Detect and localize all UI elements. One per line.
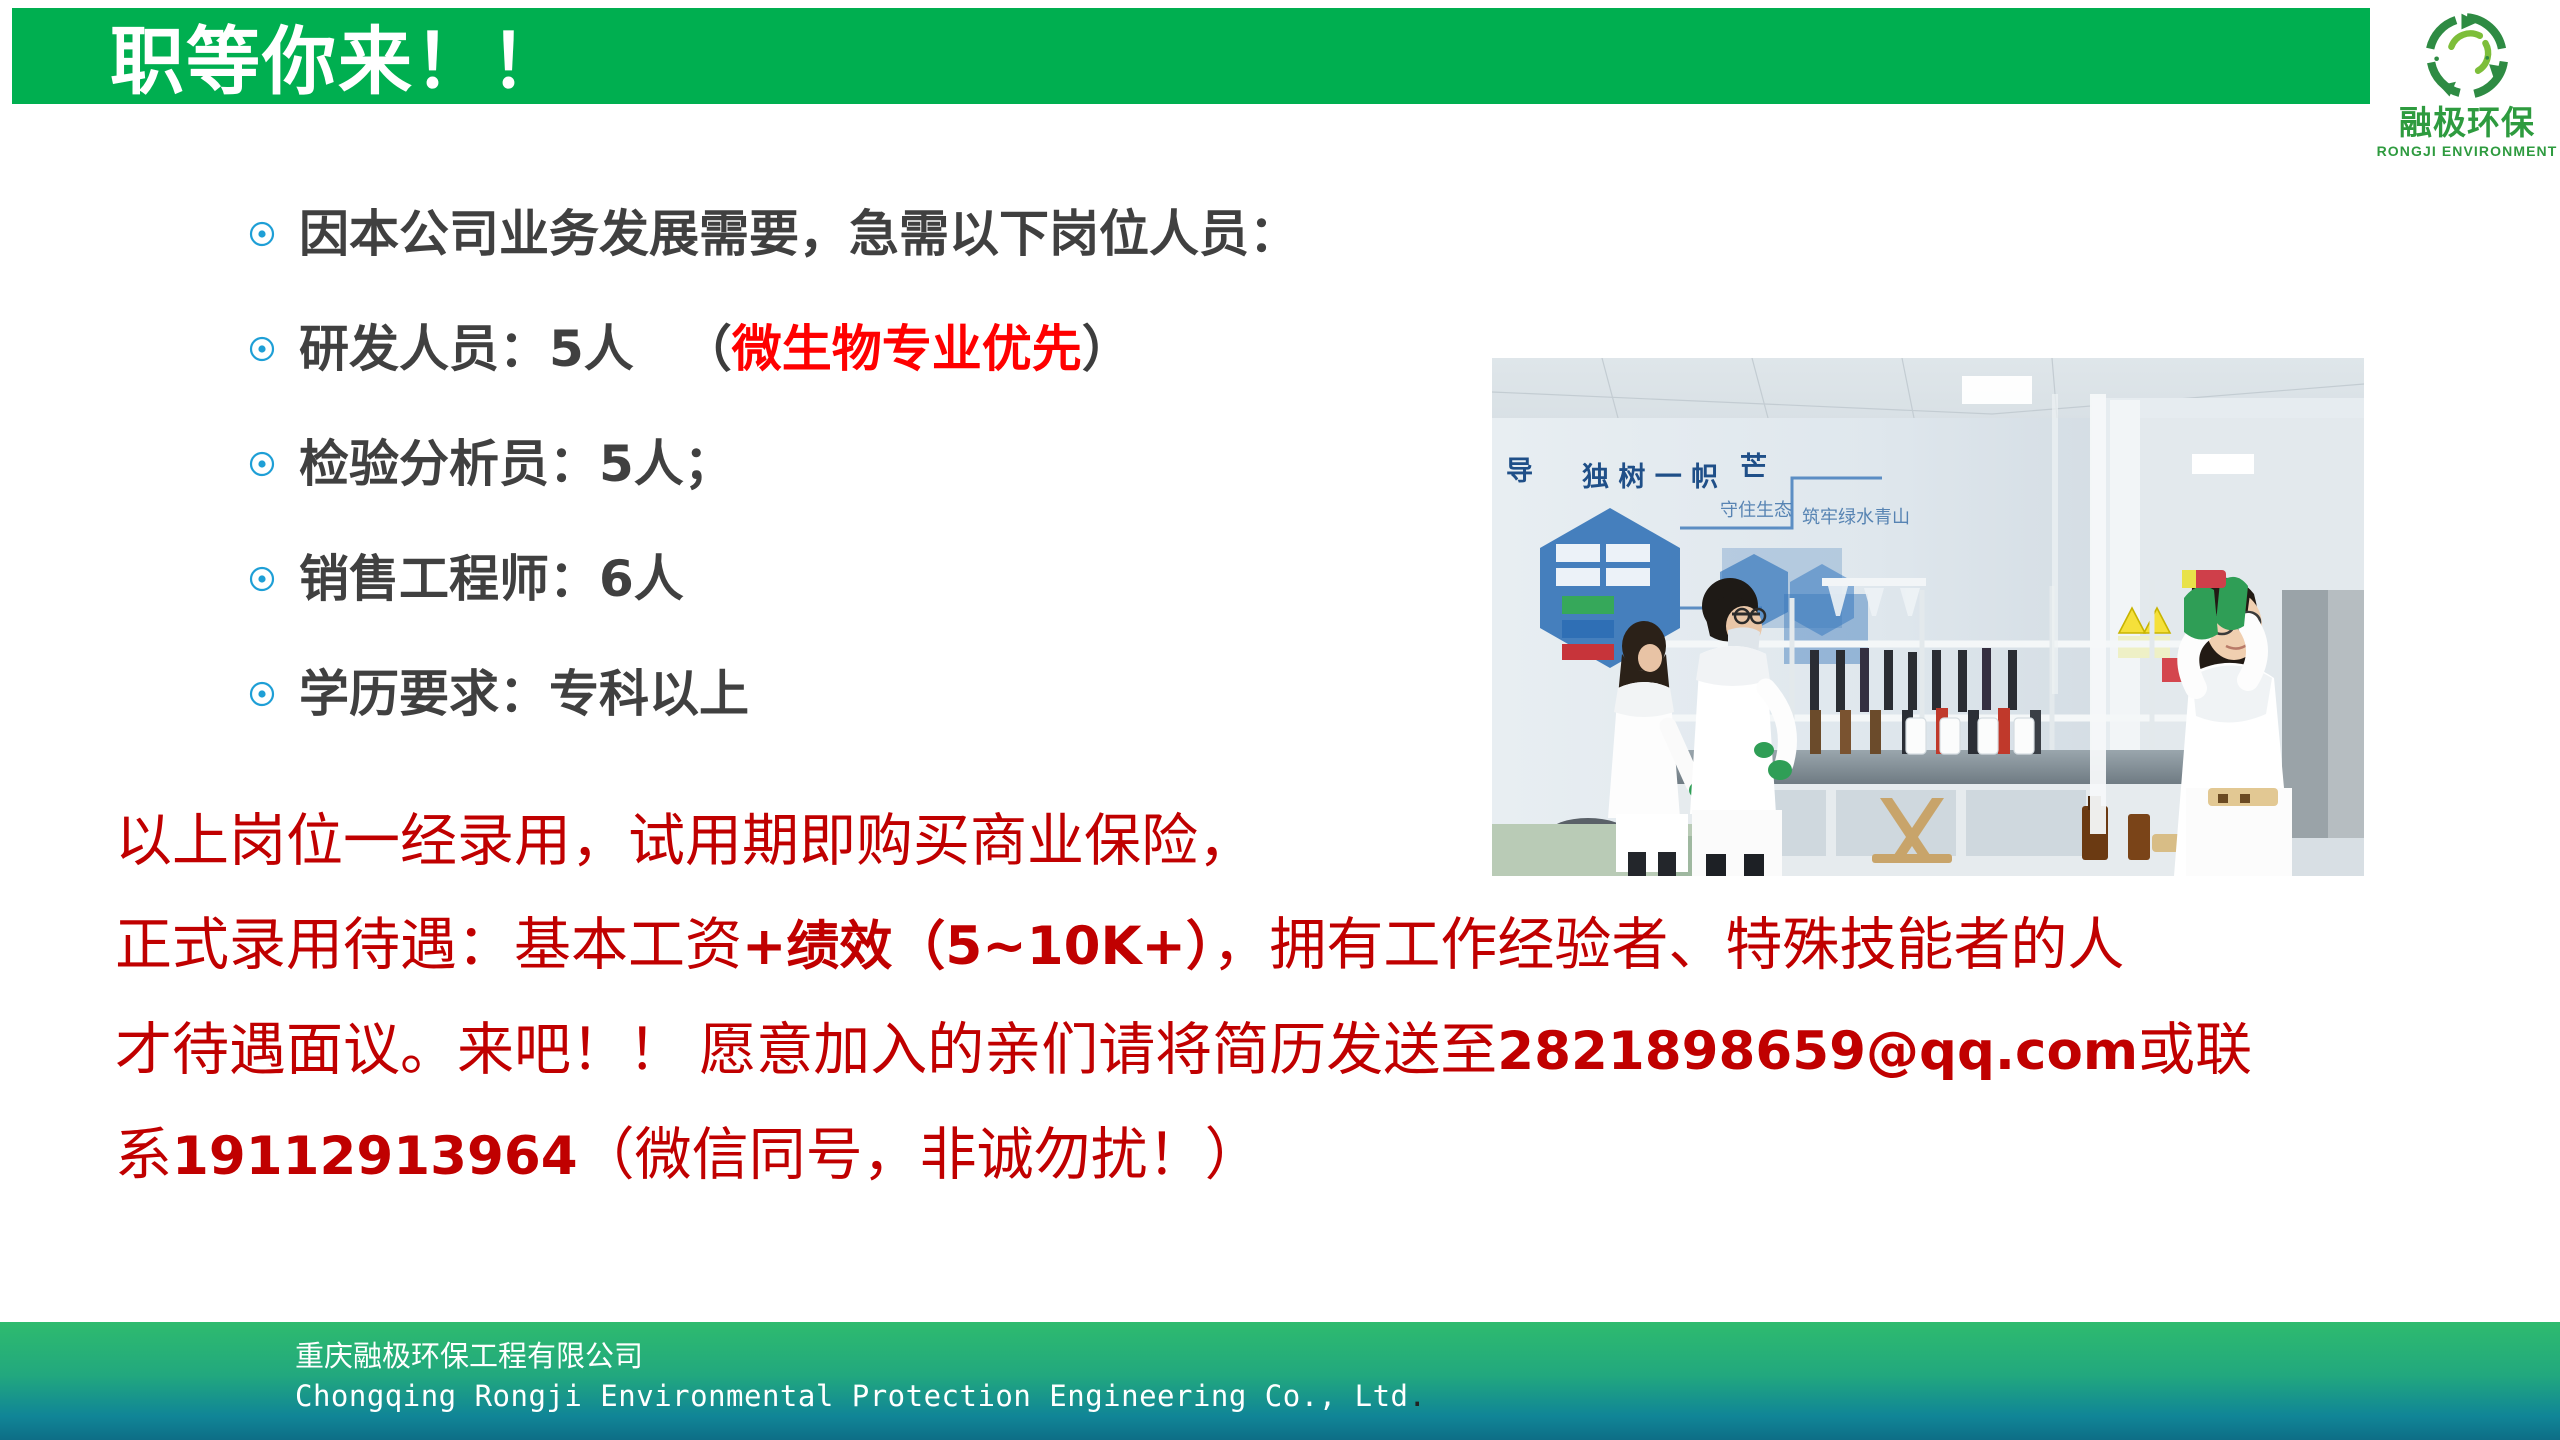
list-item-label: 因本公司业务发展需要，急需以下岗位人员： — [299, 196, 1299, 272]
list-item-label: 研发人员：5人（微生物专业优先） — [299, 311, 1132, 387]
contact-email[interactable]: 2821898659@qq.com — [1497, 1021, 2138, 1082]
offer-line-1: 以上岗位一经录用，试用期即购买商业保险， — [115, 790, 2465, 894]
svg-text:独 树 一 帜: 独 树 一 帜 — [1582, 462, 1718, 493]
phone-suffix: （微信同号，非诚勿扰！） — [578, 1124, 1262, 1187]
page-title: 职等你来！！ — [110, 14, 566, 110]
logo-name-en: RONGJI ENVIRONMENT — [2377, 142, 2558, 160]
salary-suffix: ，拥有工作经验者、特殊技能者的人 — [1212, 914, 2124, 977]
rnd-position-label: 研发人员：5人 — [299, 320, 634, 378]
highlight-text: 微生物专业优先 — [732, 320, 1082, 378]
svg-text:芒: 芒 — [1740, 452, 1767, 483]
offer-details-paragraph: 以上岗位一经录用，试用期即购买商业保险， 正式录用待遇：基本工资+绩效（5~10… — [115, 790, 2465, 1209]
salary-range: +绩效（5~10K+） — [742, 916, 1212, 977]
paren-open: （ — [682, 320, 732, 378]
list-item-label: 学历要求：专科以上 — [299, 656, 749, 732]
target-dot-bullet-icon — [245, 334, 279, 364]
company-logo: 融极环保 RONGJI ENVIRONMENT — [2370, 0, 2560, 200]
footer-company-en: Chongqing Rongji Environmental Protectio… — [295, 1378, 1426, 1414]
list-item: 研发人员：5人（微生物专业优先） — [245, 311, 1545, 387]
salary-prefix: 正式录用待遇：基本工资 — [115, 914, 742, 977]
footer-company-en-text: Chongqing Rongji Environmental Protectio… — [295, 1379, 1409, 1413]
target-dot-bullet-icon — [245, 219, 279, 249]
svg-text:筑牢绿水青山: 筑牢绿水青山 — [1802, 507, 1910, 528]
list-item-label: 销售工程师：6人 — [299, 541, 684, 617]
paren-close: ） — [1082, 320, 1132, 378]
resume-suffix: 或联 — [2138, 1019, 2252, 1082]
footer-trailing-dot: . — [1409, 1379, 1427, 1413]
offer-line-4: 系19112913964（微信同号，非诚勿扰！） — [115, 1104, 2465, 1209]
contact-phone[interactable]: 19112913964 — [172, 1126, 578, 1187]
target-dot-bullet-icon — [245, 564, 279, 594]
list-item: 销售工程师：6人 — [245, 541, 1545, 617]
logo-name-cn: 融极环保 — [2399, 104, 2535, 142]
list-item: 学历要求：专科以上 — [245, 656, 1545, 732]
target-dot-bullet-icon — [245, 449, 279, 479]
offer-line-2: 正式录用待遇：基本工资+绩效（5~10K+），拥有工作经验者、特殊技能者的人 — [115, 894, 2465, 999]
resume-prefix: 才待遇面议。来吧！！ 愿意加入的亲们请将简历发送至 — [115, 1019, 1497, 1082]
svg-text:导: 导 — [1506, 456, 1533, 487]
phone-prefix: 系 — [115, 1124, 172, 1187]
list-item: 因本公司业务发展需要，急需以下岗位人员： — [245, 196, 1545, 272]
recycle-circle-icon — [2421, 10, 2513, 102]
offer-line-3: 才待遇面议。来吧！！ 愿意加入的亲们请将简历发送至2821898659@qq.c… — [115, 999, 2465, 1104]
footer-company-cn: 重庆融极环保工程有限公司 — [295, 1338, 643, 1374]
svg-text:守住生态: 守住生态 — [1720, 500, 1792, 521]
target-dot-bullet-icon — [245, 679, 279, 709]
job-list: 因本公司业务发展需要，急需以下岗位人员： 研发人员：5人（微生物专业优先） 检验… — [245, 196, 1545, 771]
list-item: 检验分析员：5人； — [245, 426, 1545, 502]
footer-band: 重庆融极环保工程有限公司 Chongqing Rongji Environmen… — [0, 1322, 2560, 1440]
slide-root: 职等你来！！ — [0, 0, 2560, 1440]
list-item-label: 检验分析员：5人； — [299, 426, 734, 502]
